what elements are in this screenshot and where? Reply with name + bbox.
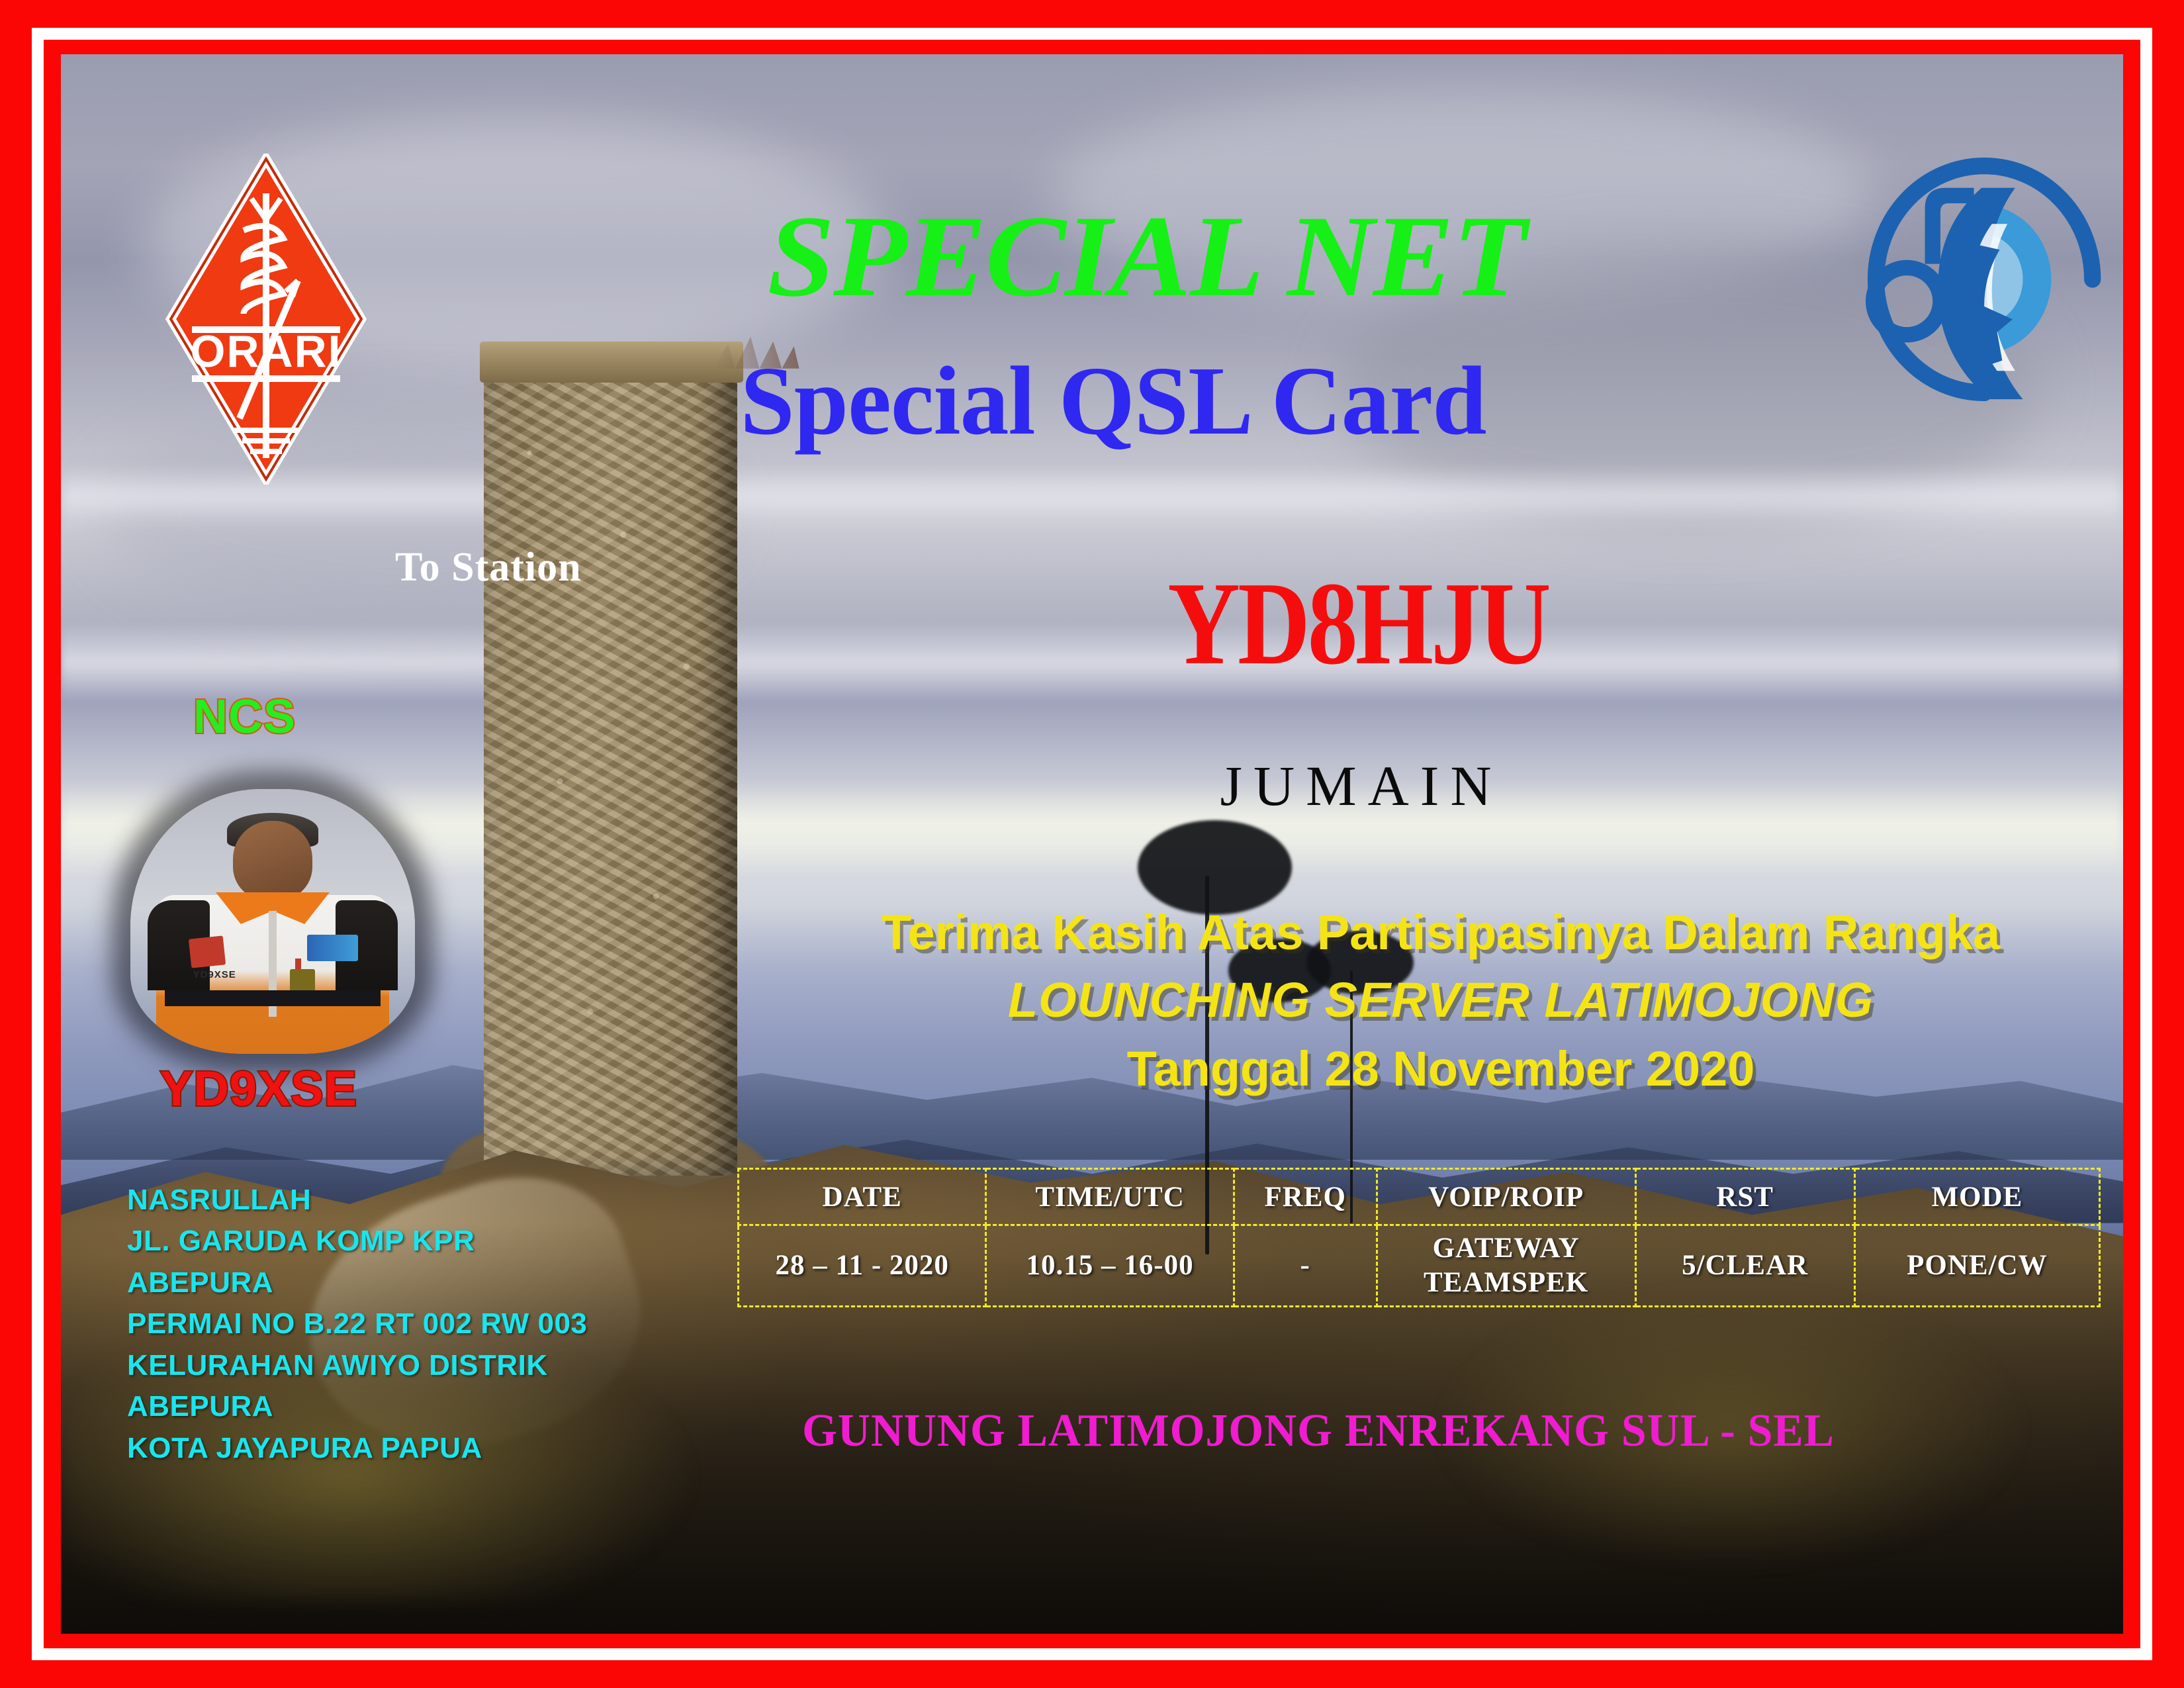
thanks-line-2: LOUNCHING SERVER LATIMOJONG — [782, 976, 2099, 1025]
page-subtitle: Special QSL Card — [524, 352, 1702, 450]
address-line: PERMAI NO B.22 RT 002 RW 003 — [127, 1303, 587, 1344]
uniform-patch-left — [189, 935, 226, 968]
location-caption: GUNUNG LATIMOJONG ENREKANG SUL - SEL — [728, 1405, 1909, 1458]
qso-log-table: DATE TIME/UTC FREQ VOIP/ROIP RST MODE 28… — [737, 1168, 2101, 1307]
svg-text:ORARI: ORARI — [190, 326, 341, 377]
col-header-voip: VOIP/ROIP — [1377, 1169, 1635, 1225]
thanks-line-1: Terima Kasih Atas Partisipasinya Dalam R… — [782, 908, 2099, 957]
station-operator-name: JUMAIN — [974, 753, 1749, 819]
orari-logo: ORARI — [160, 154, 372, 485]
address-line: JL. GARUDA KOMP KPR — [127, 1221, 587, 1262]
table-row: 28 – 11 - 2020 10.15 – 16-00 - GATEWAY T… — [739, 1225, 2100, 1307]
address-line: KELURAHAN AWIYO DISTRIK — [127, 1345, 587, 1386]
cell-rst: 5/CLEAR — [1635, 1225, 1854, 1307]
cell-date: 28 – 11 - 2020 — [739, 1225, 986, 1307]
footer-slogan: "AMATIR RADIO ADALAH PROGRESIVE" — [140, 1628, 995, 1634]
col-header-rst: RST — [1635, 1169, 1854, 1225]
address-line: ABEPURA — [127, 1386, 587, 1427]
cell-voip-line1: GATEWAY — [1378, 1231, 1635, 1266]
address-line: NASRULLAH — [127, 1180, 587, 1221]
operator-head — [233, 821, 312, 900]
ncs-label: NCS — [193, 690, 296, 744]
thanks-block: Terima Kasih Atas Partisipasinya Dalam R… — [782, 908, 2099, 1094]
uniform-callsign-tag: YD9XSE — [193, 969, 236, 980]
page-title: SPECIAL NET — [499, 199, 1793, 315]
ncs-operator-photo: YD9XSE — [130, 789, 415, 1054]
ncs-callsign: YD9XSE — [160, 1060, 357, 1117]
footer-web-address: Address : amatir.latimojong.com — [1338, 1628, 1931, 1634]
to-station-label: To Station — [395, 544, 582, 591]
cell-mode: PONE/CW — [1854, 1225, 2099, 1307]
col-header-time: TIME/UTC — [986, 1169, 1234, 1225]
card-background-photo: ORARI SPECIAL NET Special QSL Card To St… — [61, 54, 2123, 1634]
operator-belt — [165, 990, 381, 1006]
stone-monument — [484, 354, 737, 1176]
address-line: KOTA JAYAPURA PAPUA — [127, 1428, 587, 1469]
thanks-line-3: Tanggal 28 November 2020 — [782, 1045, 2099, 1094]
address-line: ABEPURA — [127, 1262, 587, 1303]
col-header-mode: MODE — [1854, 1169, 2099, 1225]
tree-canopy — [1138, 820, 1293, 915]
postal-address-block: NASRULLAH JL. GARUDA KOMP KPR ABEPURA PE… — [127, 1180, 587, 1469]
cell-voip-line2: TEAMSPEK — [1378, 1266, 1635, 1300]
col-header-date: DATE — [739, 1169, 986, 1225]
table-header-row: DATE TIME/UTC FREQ VOIP/ROIP RST MODE — [739, 1169, 2100, 1225]
col-header-freq: FREQ — [1234, 1169, 1377, 1225]
qsl-card: ORARI SPECIAL NET Special QSL Card To St… — [0, 0, 2184, 1688]
uniform-patch-right — [307, 935, 358, 961]
headset-operator-logo — [1858, 157, 2116, 402]
cell-time: 10.15 – 16-00 — [986, 1225, 1234, 1307]
station-callsign: YD8HJU — [994, 564, 1722, 682]
cell-voip: GATEWAY TEAMSPEK — [1377, 1225, 1635, 1307]
cell-freq: - — [1234, 1225, 1377, 1307]
